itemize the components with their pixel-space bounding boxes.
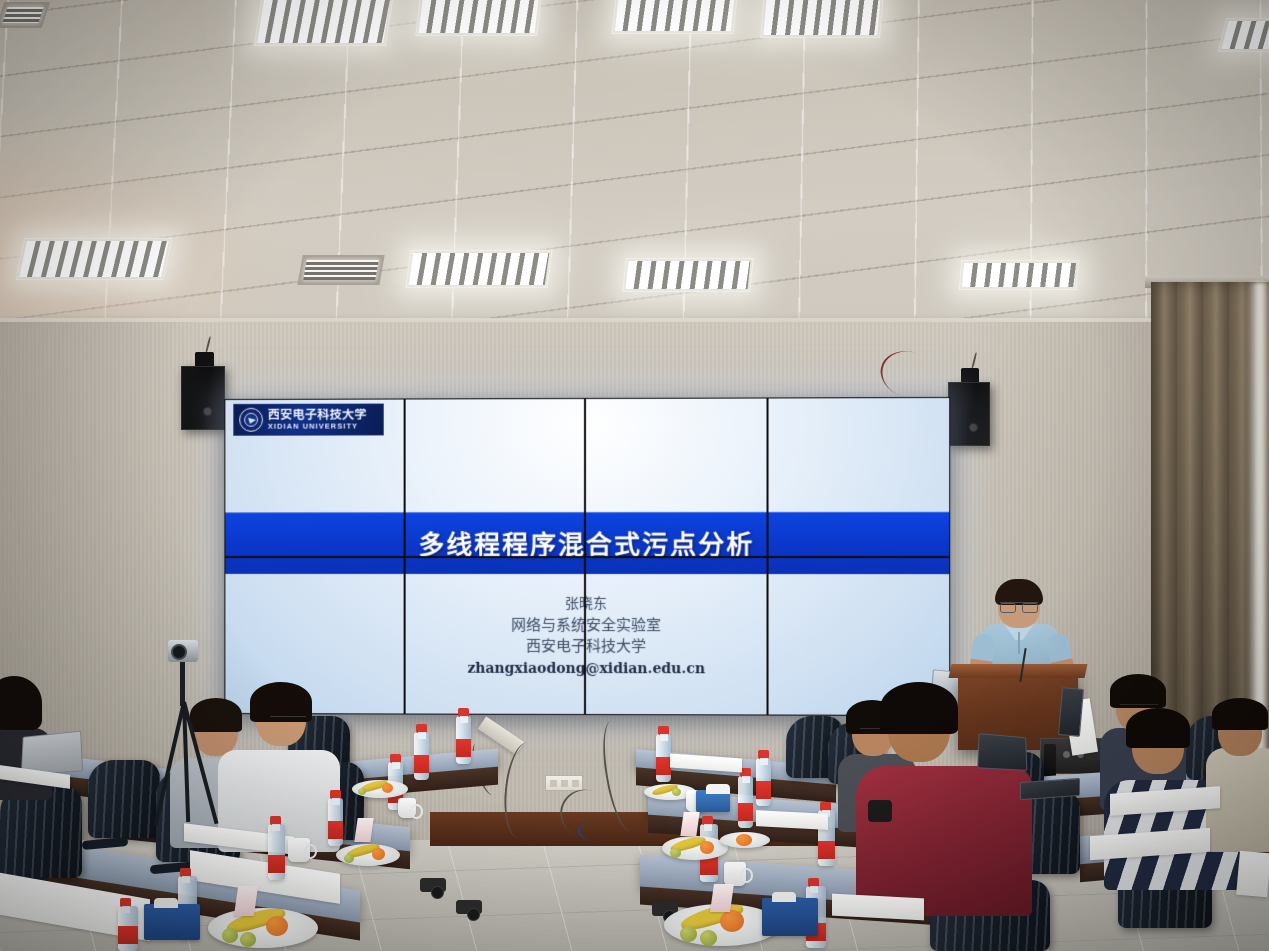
slide-university-name: 西安电子科技大学 xyxy=(225,636,403,658)
orange xyxy=(372,848,385,860)
orange xyxy=(266,916,288,936)
table-caster xyxy=(420,878,446,892)
display-panel: 多线程程序混合式污点分析 张晓东 网络与系统安全实验室 西安电子科技大学 zha… xyxy=(586,558,766,715)
slide-title: 多线程程序混合式污点分析 xyxy=(405,557,584,574)
water-bottle[interactable] xyxy=(738,776,753,828)
grapes xyxy=(222,928,238,943)
display-panel: 西安电子科技大学 XIDIAN UNIVERSITY 多线程程序混合式污点分析 … xyxy=(768,398,949,555)
grapes xyxy=(344,854,354,863)
orange xyxy=(720,910,744,932)
slide-presenter-name: 张晓东 xyxy=(768,595,949,615)
slide-presenter-name: 张晓东 xyxy=(405,595,584,615)
ceiling-light-fixture xyxy=(760,0,884,38)
water-bottle[interactable] xyxy=(268,824,285,880)
room-photo: 西安电子科技大学 XIDIAN UNIVERSITY 多线程程序混合式污点分析 … xyxy=(0,0,1269,951)
display-panel: 西安电子科技大学 XIDIAN UNIVERSITY 多线程程序混合式污点分析 … xyxy=(225,400,403,556)
table-caster xyxy=(456,900,482,914)
slide-title: 多线程程序混合式污点分析 xyxy=(768,558,949,575)
slide-title: 多线程程序混合式污点分析 xyxy=(586,512,766,556)
tissue-box[interactable] xyxy=(144,904,200,940)
grapes xyxy=(680,926,697,942)
grapes xyxy=(358,788,366,795)
fruit-plate xyxy=(720,832,770,848)
laptop[interactable] xyxy=(977,733,1027,771)
fruit-plate xyxy=(208,908,318,948)
slide-title: 多线程程序混合式污点分析 xyxy=(225,512,403,556)
slide-university-name: 西安电子科技大学 xyxy=(768,636,949,658)
name-card-tent xyxy=(680,812,699,836)
name-card-tent xyxy=(234,886,258,916)
slide-email: zhangxiaodong@xidian.edu.cn xyxy=(586,660,766,681)
grapes xyxy=(670,848,681,858)
logo-cn-text: 西安电子科技大学 xyxy=(268,409,367,421)
slide-university-name: 西安电子科技大学 xyxy=(405,636,584,658)
wristwatch xyxy=(868,800,892,822)
wall-power-outlet[interactable] xyxy=(545,775,583,791)
orange xyxy=(382,783,393,793)
grapes xyxy=(240,932,256,947)
reading-paper-held xyxy=(1236,851,1269,898)
glasses-icon xyxy=(270,716,306,724)
conference-chair[interactable] xyxy=(88,760,160,838)
fruit-plate xyxy=(662,836,728,860)
slide-title: 多线程程序混合式污点分析 xyxy=(768,512,949,556)
ceiling-light-fixture xyxy=(1218,18,1269,52)
ceiling-light-fixture xyxy=(612,0,739,34)
university-logo: 西安电子科技大学 XIDIAN UNIVERSITY xyxy=(233,404,383,436)
grapes xyxy=(700,930,717,946)
slide-title: 多线程程序混合式污点分析 xyxy=(586,558,766,575)
camcorder-tripod xyxy=(160,640,212,830)
water-bottle[interactable] xyxy=(656,734,671,782)
water-bottle[interactable] xyxy=(756,758,771,806)
camcorder xyxy=(168,640,198,662)
wall-speaker-right xyxy=(948,368,990,446)
grapes xyxy=(672,788,681,796)
slide-email: zhangxiaodong@xidian.edu.cn xyxy=(768,660,949,681)
slide-presenter-name: 张晓东 xyxy=(225,595,403,615)
logo-en-text: XIDIAN UNIVERSITY xyxy=(268,423,367,431)
ceramic-mug[interactable] xyxy=(288,838,310,862)
slide-presenter-name: 张晓东 xyxy=(586,595,766,615)
slide-email: zhangxiaodong@xidian.edu.cn xyxy=(405,660,584,681)
slide-lab-name: 网络与系统安全实验室 xyxy=(768,615,949,637)
video-wall-display[interactable]: 西安电子科技大学 XIDIAN UNIVERSITY 多线程程序混合式污点分析 … xyxy=(224,397,950,716)
display-panel: 西安电子科技大学 XIDIAN UNIVERSITY 多线程程序混合式污点分析 … xyxy=(586,399,766,556)
slide-title: 多线程程序混合式污点分析 xyxy=(405,512,584,556)
tissue-box[interactable] xyxy=(762,898,818,936)
name-card-tent xyxy=(354,818,373,842)
ceiling-light-fixture xyxy=(254,0,395,46)
slide-lab-name: 网络与系统安全实验室 xyxy=(225,615,403,637)
slide-email: zhangxiaodong@xidian.edu.cn xyxy=(225,660,403,681)
ceiling-light-fixture xyxy=(415,0,543,36)
fruit-plate xyxy=(352,780,408,798)
water-bottle[interactable] xyxy=(328,798,343,846)
slide-lab-name: 网络与系统安全实验室 xyxy=(405,615,584,637)
av-cable-coil xyxy=(578,820,622,842)
slide-lab-name: 网络与系统安全实验室 xyxy=(586,615,766,637)
water-bottle[interactable] xyxy=(118,906,138,951)
ceiling-vent xyxy=(0,2,50,28)
ceiling-light-fixture xyxy=(16,238,173,280)
ceiling-light-fixture xyxy=(622,258,754,292)
xidian-crest-icon xyxy=(239,408,263,432)
ceiling-light-fixture xyxy=(405,250,552,288)
name-card-tent xyxy=(710,884,734,912)
water-bottle[interactable] xyxy=(414,732,429,780)
ceramic-mug[interactable] xyxy=(724,862,746,886)
ceramic-mug[interactable] xyxy=(398,798,416,818)
slide-university-name: 西安电子科技大学 xyxy=(586,636,766,658)
display-panel: 西安电子科技大学 XIDIAN UNIVERSITY 多线程程序混合式污点分析 … xyxy=(405,399,584,556)
water-bottle[interactable] xyxy=(456,716,471,764)
fruit-plate xyxy=(336,844,400,866)
orange xyxy=(700,841,714,854)
display-panel: 多线程程序混合式污点分析 张晓东 网络与系统安全实验室 西安电子科技大学 zha… xyxy=(405,557,584,714)
wall-speaker-left xyxy=(181,352,225,434)
laptop[interactable] xyxy=(1058,687,1084,737)
ceiling-light-fixture xyxy=(959,260,1080,290)
presenter-glasses-icon xyxy=(1000,602,1038,610)
audience-person xyxy=(1206,700,1269,850)
orange xyxy=(736,834,752,846)
ceiling-vent xyxy=(297,255,384,285)
tissue-box[interactable] xyxy=(696,790,730,812)
audience-person xyxy=(862,688,1022,908)
slide-title: 多线程程序混合式污点分析 xyxy=(225,557,403,574)
